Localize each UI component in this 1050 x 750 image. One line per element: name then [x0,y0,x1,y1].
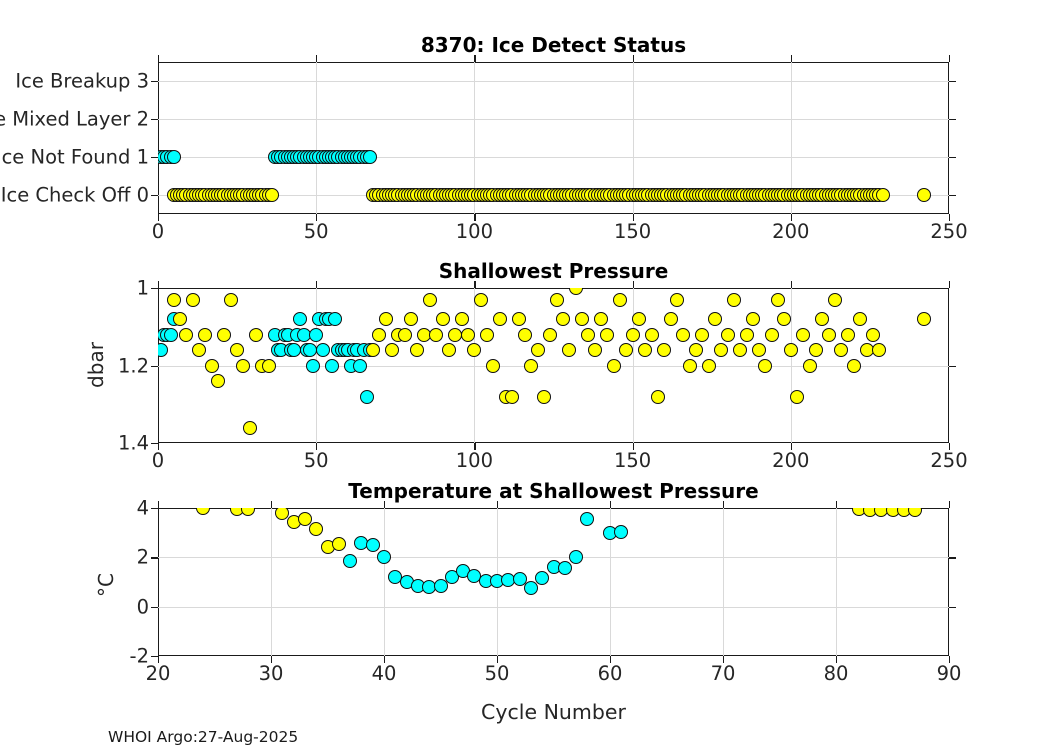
data-point-marker [588,343,602,357]
data-point-marker [575,312,589,326]
data-point-marker [683,359,697,373]
x-tick-top [610,501,611,508]
data-point-marker [853,312,867,326]
data-point-marker [550,293,564,307]
data-point-marker [434,579,448,593]
data-point-marker [771,293,785,307]
data-point-marker [505,390,519,404]
data-point-marker [249,328,263,342]
panel-shallowest-pressure: Shallowest Pressure 05010015020025011.21… [158,288,949,443]
x-tick-label: 0 [152,220,164,243]
data-point-marker [714,343,728,357]
y-tick-label: 1 [137,277,149,300]
y-tick-label: Ice Mixed Layer 2 [0,108,149,131]
x-axis-label-cycle-number: Cycle Number [158,700,949,724]
data-point-marker [243,421,257,435]
data-point-marker [512,312,526,326]
panel-title-ice-detect-status: 8370: Ice Detect Status [421,33,686,57]
data-point-marker [196,508,210,515]
data-point-marker [721,328,735,342]
data-point-marker [325,359,339,373]
data-point-marker [224,293,238,307]
y-tick-right [949,119,956,120]
footer-attribution: WHOI Argo:27-Aug-2025 [108,728,298,746]
data-point-marker [262,359,276,373]
data-point-marker [366,538,380,552]
data-point-marker [186,293,200,307]
data-point-marker [164,328,178,342]
x-tick-top [271,501,272,508]
y-tick [151,81,158,82]
data-point-marker [809,343,823,357]
data-point-marker [332,537,346,551]
data-point-marker [241,508,255,516]
data-point-marker [841,328,855,342]
data-point-marker [600,328,614,342]
data-point-marker [303,343,317,357]
figure-canvas: 8370: Ice Detect Status 050100150200250I… [0,0,1050,750]
data-point-marker [619,343,633,357]
data-point-marker [410,343,424,357]
x-tick-label: 50 [304,449,329,472]
data-point-marker [385,343,399,357]
data-point-marker [581,328,595,342]
data-point-marker [626,328,640,342]
data-point-marker [535,571,549,585]
data-point-marker [758,359,772,373]
x-tick-top [474,55,475,62]
data-point-marker [167,150,181,164]
data-point-marker [872,343,886,357]
x-tick-top [791,281,792,288]
x-tick-top [949,281,950,288]
y-tick [151,557,158,558]
x-tick-label: 250 [930,220,967,243]
data-point-marker [689,343,703,357]
data-point-marker [211,374,225,388]
data-point-marker [461,328,475,342]
x-tick-top [949,501,950,508]
data-point-marker [632,312,646,326]
data-point-marker [752,343,766,357]
x-tick-label: 200 [772,220,809,243]
data-point-marker [569,288,583,295]
x-tick-label: 20 [146,662,171,685]
datapoints-temperature [158,508,949,656]
data-point-marker [363,150,377,164]
data-point-marker [740,328,754,342]
data-point-marker [429,328,443,342]
data-point-marker [651,390,665,404]
data-point-marker [657,343,671,357]
x-tick-label: 70 [711,662,736,685]
data-point-marker [803,359,817,373]
data-point-marker [173,312,187,326]
data-point-marker [614,525,628,539]
data-point-marker [353,359,367,373]
data-point-marker [746,312,760,326]
y-axis-label-celsius: °C [94,573,118,597]
data-point-marker [328,312,342,326]
data-point-marker [436,312,450,326]
data-point-marker [558,561,572,575]
y-tick [151,195,158,196]
data-point-marker [524,359,538,373]
data-point-marker [765,328,779,342]
datapoints-ice-detect-status [158,62,949,214]
data-point-marker [205,359,219,373]
data-point-marker [486,359,500,373]
x-tick-top [791,55,792,62]
data-point-marker [474,293,488,307]
data-point-marker [198,328,212,342]
x-tick-top [384,501,385,508]
data-point-marker [822,328,836,342]
x-tick-label: 50 [485,662,510,685]
y-tick [151,288,158,289]
data-point-marker [423,293,437,307]
x-tick-label: 150 [614,449,651,472]
data-point-marker [664,312,678,326]
data-point-marker [404,312,418,326]
panel-ice-detect-status: 8370: Ice Detect Status 050100150200250I… [158,62,949,214]
y-tick-right [949,607,956,608]
data-point-marker [607,359,621,373]
datapoints-shallowest-pressure [158,288,949,443]
panel-title-shallowest-pressure: Shallowest Pressure [439,259,669,283]
x-tick-label: 0 [152,449,164,472]
data-point-marker [556,312,570,326]
data-point-marker [316,343,330,357]
y-tick-right [949,157,956,158]
data-point-marker [455,312,469,326]
data-point-marker [493,312,507,326]
data-point-marker [708,312,722,326]
x-tick-top [633,55,634,62]
data-point-marker [230,343,244,357]
x-tick-top [158,55,159,62]
data-point-marker [377,550,391,564]
data-point-marker [733,343,747,357]
x-tick-top [158,501,159,508]
data-point-marker [306,359,320,373]
y-axis-label-dbar: dbar [84,342,108,388]
y-tick-label: Ice Check Off 0 [1,184,149,207]
data-point-marker [676,328,690,342]
data-point-marker [828,293,842,307]
data-point-marker [379,312,393,326]
data-point-marker [293,312,307,326]
data-point-marker [192,343,206,357]
data-point-marker [467,343,481,357]
y-tick-right [949,557,956,558]
data-point-marker [480,328,494,342]
data-point-marker [580,512,594,526]
data-point-marker [815,312,829,326]
y-tick [151,443,158,444]
x-tick-label: 90 [937,662,962,685]
y-tick-label: -2 [130,645,149,668]
data-point-marker [727,293,741,307]
data-point-marker [645,328,659,342]
y-tick [151,119,158,120]
y-tick-label: Ice Not Found 1 [0,146,149,169]
data-point-marker [790,390,804,404]
x-tick-label: 100 [456,220,493,243]
data-point-marker [236,359,250,373]
data-point-marker [543,328,557,342]
x-tick-label: 250 [930,449,967,472]
data-point-marker [372,328,386,342]
data-point-marker [784,343,798,357]
data-point-marker [847,359,861,373]
data-point-marker [670,293,684,307]
x-tick-label: 150 [614,220,651,243]
x-tick-top [316,55,317,62]
data-point-marker [594,312,608,326]
data-point-marker [343,554,357,568]
x-tick-top [474,281,475,288]
y-tick-label: 0 [137,595,149,618]
data-point-marker [613,293,627,307]
data-point-marker [537,390,551,404]
y-tick-label: 4 [137,497,149,520]
x-tick-top [836,501,837,508]
data-point-marker [309,328,323,342]
data-point-marker [702,359,716,373]
data-point-marker [524,581,538,595]
x-tick-label: 80 [824,662,849,685]
data-point-marker [777,312,791,326]
y-tick-label: 1.2 [118,354,149,377]
x-tick-label: 30 [259,662,284,685]
panel-title-temperature: Temperature at Shallowest Pressure [348,479,758,503]
data-point-marker [158,343,168,357]
y-tick [151,366,158,367]
y-tick-label: 2 [137,546,149,569]
data-point-marker [398,328,412,342]
x-tick-top [723,501,724,508]
x-tick-label: 200 [772,449,809,472]
data-point-marker [834,343,848,357]
data-point-marker [695,328,709,342]
data-point-marker [569,550,583,564]
data-point-marker [917,312,931,326]
data-point-marker [562,343,576,357]
y-tick [151,508,158,509]
data-point-marker [265,188,279,202]
x-tick-label: 50 [304,220,329,243]
y-tick [151,656,158,657]
y-tick-right [949,81,956,82]
data-point-marker [366,343,380,357]
x-tick-label: 60 [598,662,623,685]
y-tick-right [949,195,956,196]
y-tick [151,157,158,158]
x-tick-label: 100 [456,449,493,472]
data-point-marker [796,328,810,342]
data-point-marker [287,343,301,357]
x-tick-label: 40 [372,662,397,685]
x-tick-top [633,281,634,288]
data-point-marker [638,343,652,357]
x-tick-top [158,281,159,288]
data-point-marker [908,508,922,517]
data-point-marker [866,328,880,342]
x-tick-top [497,501,498,508]
y-tick-label: 1.4 [118,432,149,455]
data-point-marker [876,188,890,202]
data-point-marker [917,188,931,202]
y-tick [151,607,158,608]
x-tick-top [316,281,317,288]
data-point-marker [360,390,374,404]
panel-temperature-at-shallowest-pressure: Temperature at Shallowest Pressure 20304… [158,508,949,656]
y-tick-right [949,366,956,367]
data-point-marker [179,328,193,342]
data-point-marker [518,328,532,342]
y-tick-label: Ice Breakup 3 [15,70,149,93]
data-point-marker [217,328,231,342]
data-point-marker [167,293,181,307]
data-point-marker [309,522,323,536]
data-point-marker [531,343,545,357]
data-point-marker [442,343,456,357]
x-tick-top [949,55,950,62]
